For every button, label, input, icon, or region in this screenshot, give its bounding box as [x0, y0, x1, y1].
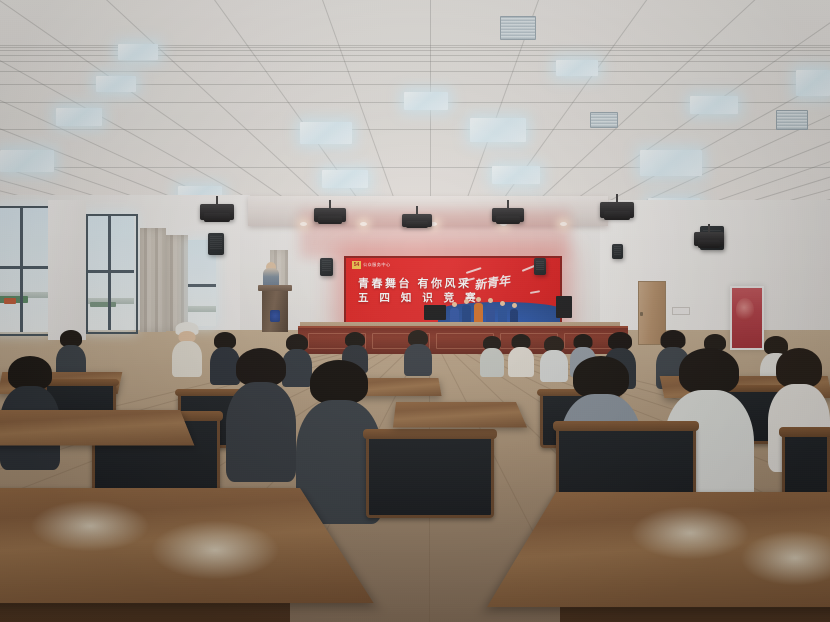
wall-speaker-mid [320, 258, 333, 276]
hanging-stage-light [694, 224, 724, 248]
led-headline-2: 五 四 知 识 竞 赛 [358, 290, 480, 305]
wall-speaker-far-right [612, 244, 623, 259]
led-logo-text: 公众服务中心 [363, 262, 391, 268]
chair-foreground [366, 432, 494, 518]
ceiling-light-panel [404, 92, 448, 110]
curtain-left [140, 228, 166, 332]
hanging-stage-light [492, 200, 524, 224]
curtain-mid [166, 235, 188, 331]
audience-person [508, 334, 534, 376]
led-screen: 54 公众服务中心 青春舞台 有你风采 五 四 知 识 竞 赛 新青年 [344, 256, 562, 330]
photo-canvas: 54 公众服务中心 青春舞台 有你风采 五 四 知 识 竞 赛 新青年 [0, 0, 830, 622]
audience-person-cap [172, 322, 202, 376]
ceiling-light-panel [492, 166, 540, 184]
ceiling-grid-line [0, 71, 830, 72]
ceiling-light-panel [300, 122, 352, 144]
ceiling-grid-line [0, 167, 830, 168]
hanging-stage-light [600, 194, 634, 220]
ceiling-light-panel [0, 150, 54, 172]
ceiling-light-panel [118, 44, 158, 60]
stage-monitor [424, 305, 446, 320]
stage-speaker-cabinet [556, 296, 572, 318]
wall-speaker-left [208, 233, 224, 255]
decor-streak [466, 267, 482, 273]
led-headline-1: 青春舞台 有你风采 [358, 275, 472, 291]
ceiling-light-panel [690, 96, 738, 114]
ceiling-light-panel [96, 76, 136, 92]
ceiling-air-vent [776, 110, 808, 130]
poster-portrait [736, 298, 754, 322]
ceiling-air-vent [590, 112, 618, 128]
hanging-stage-light [402, 206, 432, 228]
wall-pillar [48, 200, 86, 340]
podium-emblem [270, 310, 280, 322]
hanging-stage-light [314, 200, 346, 224]
audience-person-foreground [226, 348, 296, 478]
ceiling-light-panel [796, 70, 830, 96]
downlight [560, 222, 567, 226]
led-logo-mark: 54 [352, 261, 361, 269]
ceiling-light-panel [556, 60, 598, 76]
ceiling-light-panel [470, 118, 526, 142]
wall-speaker-mid2 [534, 258, 546, 275]
audience-person [480, 336, 504, 376]
led-logo: 54 公众服务中心 [352, 261, 391, 269]
downlight [360, 222, 367, 226]
podium-top [258, 285, 292, 291]
ceiling-grid-line [0, 61, 830, 62]
led-script-text: 新青年 [473, 272, 511, 294]
ceiling-air-vent [500, 16, 536, 40]
hanging-stage-light [200, 196, 234, 222]
door-handle-icon[interactable] [640, 312, 643, 316]
ceiling-light-panel [640, 150, 702, 176]
ceiling-grid-line [0, 129, 830, 130]
audience-person [404, 330, 432, 374]
window-frame-near [86, 214, 138, 334]
decor-streak [530, 290, 540, 293]
downlight [300, 222, 307, 226]
ceiling-light-panel [56, 108, 102, 126]
ceiling-light-panel [322, 170, 368, 188]
conference-table-mid [393, 402, 527, 427]
conference-table-mid [0, 410, 194, 445]
window-frame-far [0, 206, 52, 336]
wall-sign [672, 307, 690, 315]
